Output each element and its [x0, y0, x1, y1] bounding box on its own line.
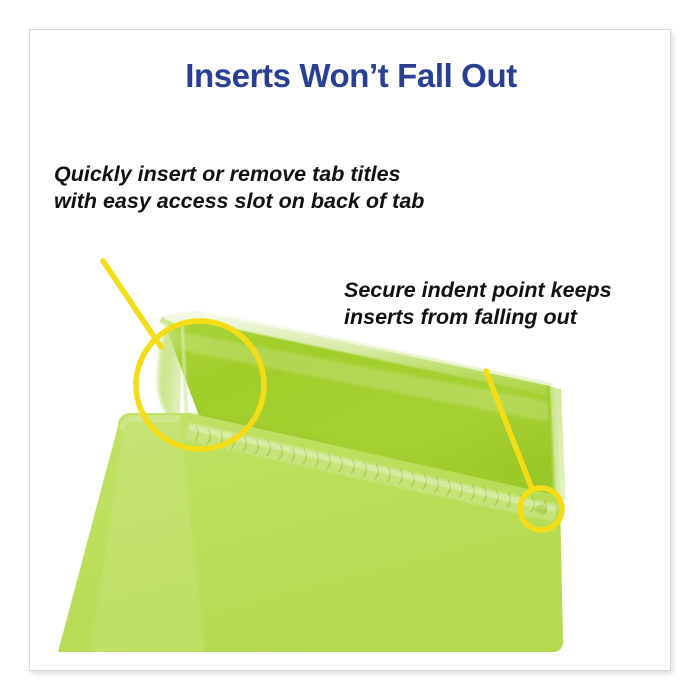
screenshot-root: Inserts Won’t Fall Out Quickly insert or…: [0, 0, 700, 700]
callout-access-slot-line-1: Quickly insert or remove tab titles: [54, 161, 424, 188]
product-photograph: [30, 30, 671, 671]
callout-indent-point-text: Secure indent point keeps inserts from f…: [344, 277, 612, 331]
product-card-frame: Inserts Won’t Fall Out Quickly insert or…: [29, 29, 671, 671]
product-photo-svg: [30, 30, 671, 671]
callout-access-slot-line-2: with easy access slot on back of tab: [54, 188, 424, 215]
callout-indent-point-line-2: inserts from falling out: [344, 304, 612, 331]
callout-indent-point-line-1: Secure indent point keeps: [344, 277, 612, 304]
secure-indent-point: [535, 505, 547, 514]
page-title: Inserts Won’t Fall Out: [30, 57, 671, 95]
callout-access-slot-text: Quickly insert or remove tab titles with…: [54, 161, 424, 215]
